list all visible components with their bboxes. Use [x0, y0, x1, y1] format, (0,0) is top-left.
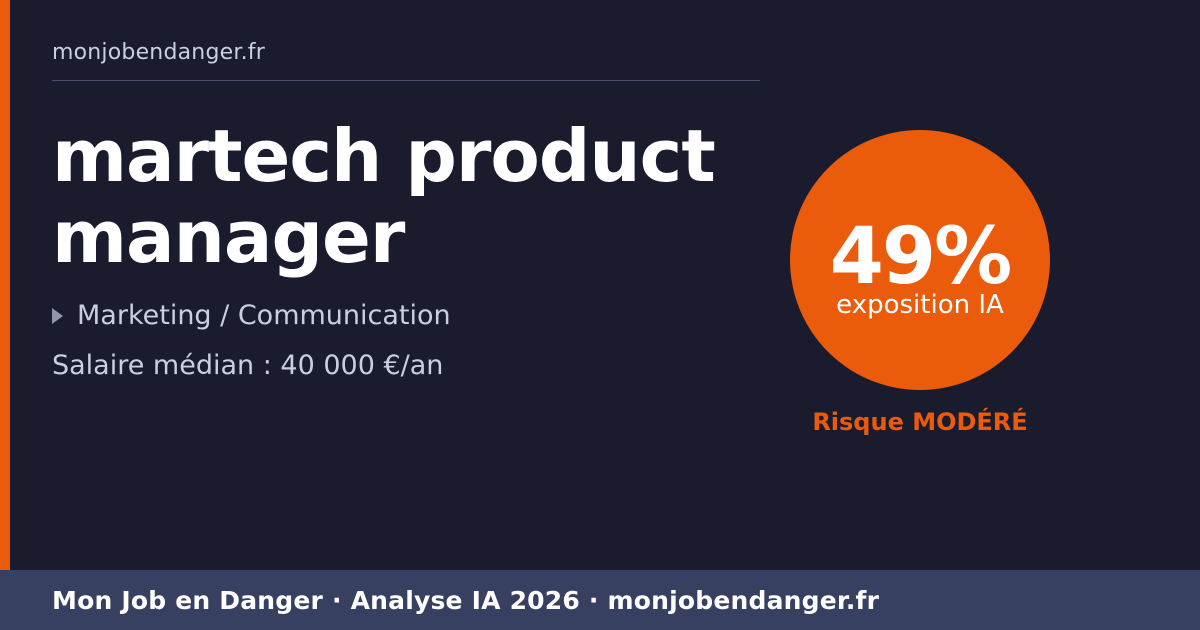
exposure-score-label: exposition IA: [836, 292, 1004, 318]
exposure-score-badge: 49% exposition IA: [790, 130, 1050, 390]
job-meta: Marketing / Communication Salaire médian…: [52, 298, 752, 385]
footer-bar: Mon Job en Danger · Analyse IA 2026 · mo…: [0, 570, 1200, 630]
risk-status-badge: Risque MODÉRÉ: [790, 408, 1050, 436]
job-salary: Salaire médian : 40 000 €/an: [52, 348, 752, 384]
footer-text: Mon Job en Danger · Analyse IA 2026 · mo…: [52, 586, 879, 615]
job-sector-label: Marketing / Communication: [77, 298, 451, 334]
triangle-right-icon: [52, 308, 63, 324]
job-sector: Marketing / Communication: [52, 298, 752, 334]
left-accent-bar: [0, 0, 10, 570]
header-divider: [52, 80, 760, 81]
job-risk-card: monjobendanger.fr martech product manage…: [0, 0, 1200, 630]
exposure-score-value: 49%: [830, 220, 1011, 294]
page-title: martech product manager: [52, 116, 752, 277]
site-name: monjobendanger.fr: [52, 40, 265, 66]
